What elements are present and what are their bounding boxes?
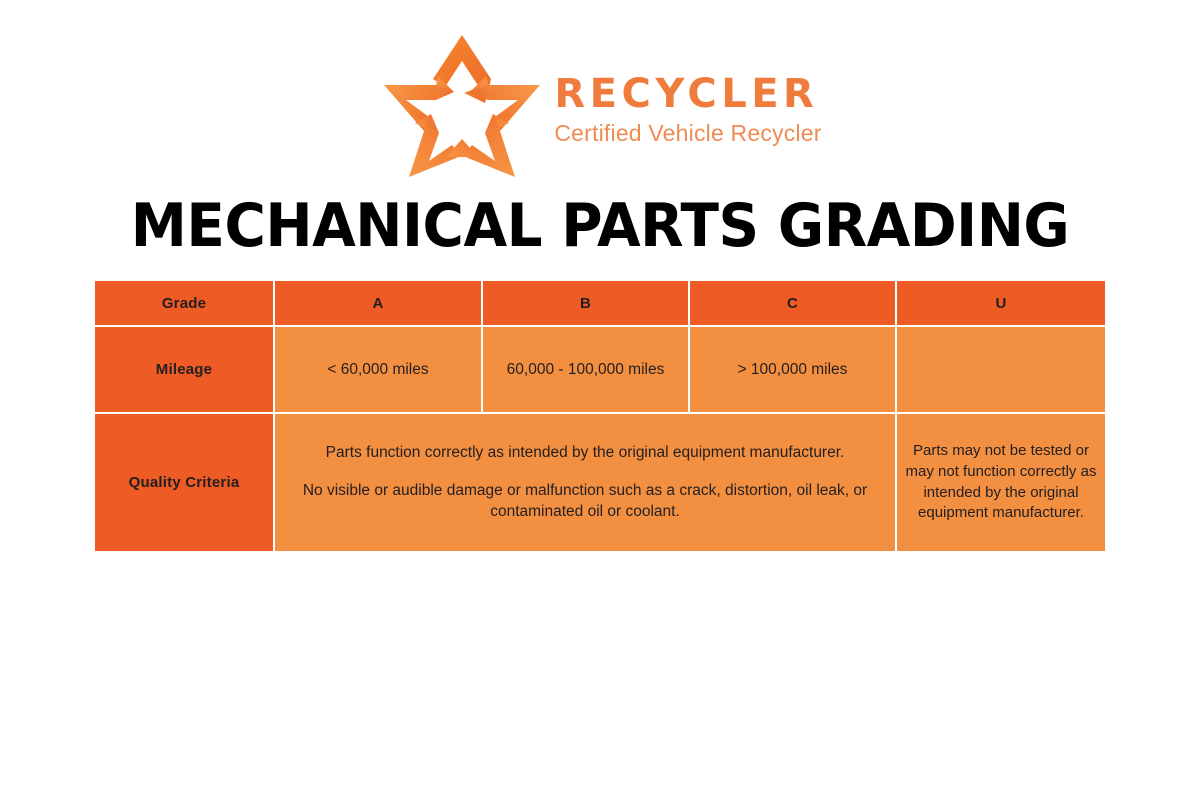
quality-criteria-paragraph-2: No visible or audible damage or malfunct… [275,481,895,522]
brand-tagline: Certified Vehicle Recycler [554,120,821,148]
cell-mileage-c: > 100,000 miles [690,327,897,414]
wordmark: RECYCLER Certified Vehicle Recycler [554,65,821,148]
row-label-mileage: Mileage [95,327,275,414]
recycling-star-icon [378,31,546,181]
column-header-b: B [483,281,690,327]
column-header-c: C [690,281,897,327]
cell-mileage-a: < 60,000 miles [275,327,483,414]
cell-quality-criteria-abc: Parts function correctly as intended by … [275,414,897,551]
row-label-quality-criteria: Quality Criteria [95,414,275,551]
brand-name: RECYCLER [554,73,818,115]
column-header-a: A [275,281,483,327]
table-row-quality-criteria: Quality Criteria Parts function correctl… [95,414,1105,551]
column-header-grade: Grade [95,281,275,327]
logo-inner: RECYCLER Certified Vehicle Recycler [378,31,821,181]
quality-criteria-paragraph-1: Parts function correctly as intended by … [275,443,895,463]
table-row-mileage: Mileage < 60,000 miles 60,000 - 100,000 … [95,327,1105,414]
page-title: MECHANICAL PARTS GRADING [36,192,1164,261]
brand-logo: RECYCLER Certified Vehicle Recycler [0,26,1200,186]
mechanical-parts-grading-table: Grade A B C U Mileage < 60,000 miles 60,… [95,281,1105,551]
cell-mileage-u [897,327,1105,414]
column-header-u: U [897,281,1105,327]
cell-mileage-b: 60,000 - 100,000 miles [483,327,690,414]
cell-quality-criteria-u: Parts may not be tested or may not funct… [897,414,1105,551]
table-header-row: Grade A B C U [95,281,1105,327]
